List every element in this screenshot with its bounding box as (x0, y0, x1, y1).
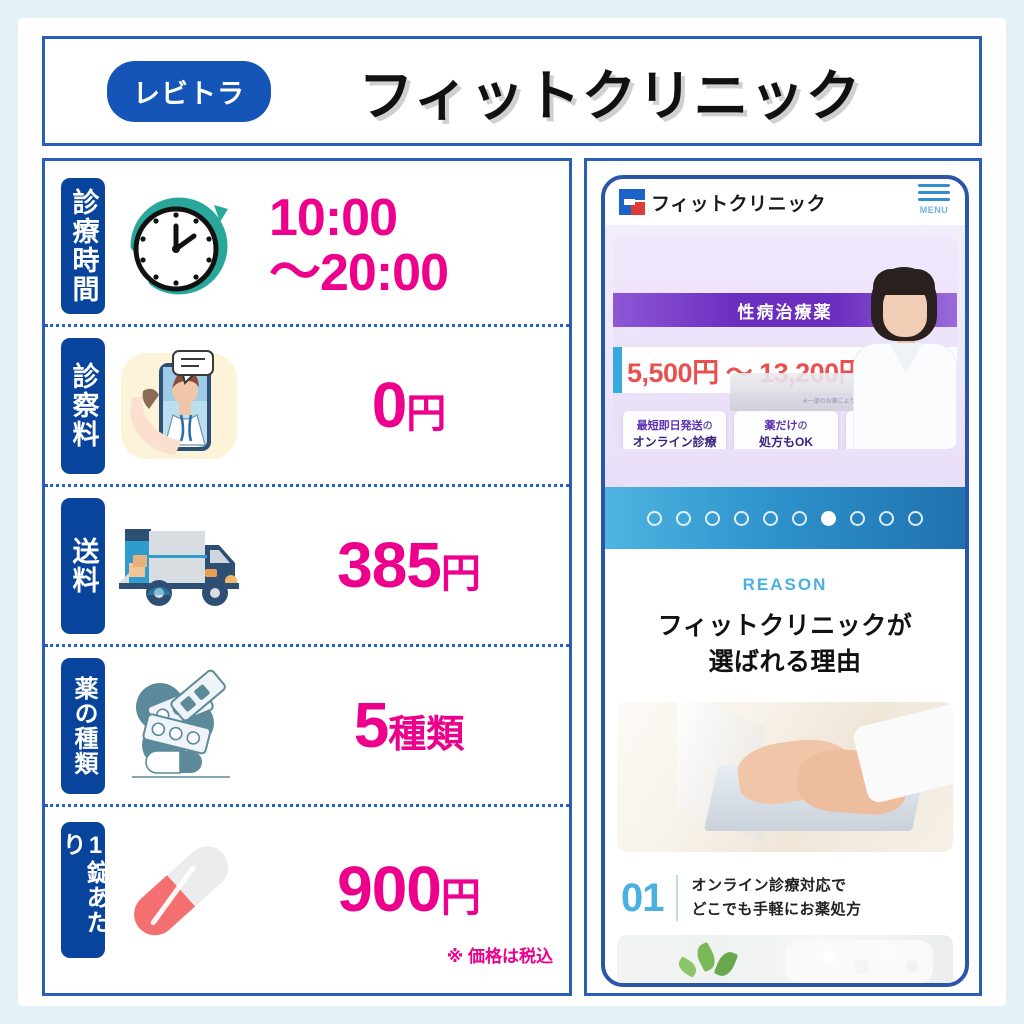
spec-value: 0円 (249, 372, 569, 439)
spec-panel: 診療時間 (42, 158, 572, 996)
feature-chip[interactable]: 最短即日発送の オンライン診療 (623, 411, 726, 449)
spec-row: 薬の種類 (45, 647, 569, 807)
feature-chip[interactable]: 薬だけの 処方もOK (734, 411, 837, 449)
carousel-dot-active[interactable] (821, 511, 836, 526)
spec-value-unit: 円 (441, 876, 481, 920)
carousel-dot[interactable] (908, 511, 923, 526)
spec-value-number: 385 (337, 529, 441, 601)
chip-line2: 処方もOK (736, 434, 835, 449)
spec-label-shinsatsuryo: 診察料 (61, 338, 105, 474)
reason-kicker: REASON (605, 575, 965, 595)
tax-note: ※ 価格は税込 (447, 942, 553, 967)
spec-row: 1錠あたり 900円 ※ 価格は税込 (45, 807, 569, 973)
herbal-pills-photo (617, 935, 953, 983)
chip-line1-suffix: の (703, 421, 713, 432)
chip-line1: 薬だけ (764, 420, 797, 432)
laptop-typing-photo (617, 702, 953, 852)
reason-title-line2: 選ばれる理由 (605, 645, 965, 681)
site-logo-text: フィットクリニック (651, 189, 826, 216)
spec-label-shinryojikan: 診療時間 (61, 178, 105, 314)
carousel-dot[interactable] (734, 511, 749, 526)
spec-row: 送料 (45, 487, 569, 647)
carousel-dot[interactable] (879, 511, 894, 526)
phone-preview-panel: フィットクリニック MENU 性病治療薬 5,500円 〜 13,200円 (584, 158, 982, 996)
spec-value-row: 385円 (337, 532, 481, 599)
carousel-dot[interactable] (792, 511, 807, 526)
reason-title: フィットクリニックが 選ばれる理由 (605, 609, 965, 680)
capsule-icon (109, 820, 249, 960)
chip-line2: オンライン診療 (625, 434, 724, 449)
clinic-logo-icon (619, 189, 645, 215)
reason-text: オンライン診療対応で どこでも手軽にお薬処方 (692, 874, 862, 922)
reason-title-line1: フィットクリニックが (605, 609, 965, 645)
pills-icon (109, 656, 249, 796)
spec-value: 385円 (249, 532, 569, 599)
spec-value: 5種類 (249, 692, 569, 759)
spec-row: 診療時間 (45, 167, 569, 327)
phone-mockup: フィットクリニック MENU 性病治療薬 5,500円 〜 13,200円 (601, 175, 969, 987)
spec-value-line1: 10:00 (249, 191, 569, 246)
spec-value-row: 5種類 (354, 692, 465, 759)
delivery-truck-icon (109, 496, 249, 636)
spec-value-row: 900円 (337, 856, 481, 923)
spec-value-number: 5 (354, 689, 389, 761)
spec-value-number: 0 (372, 369, 407, 441)
spec-value: 900円 (249, 856, 569, 923)
reason-text-line1: オンライン診療対応で (692, 874, 862, 898)
carousel-dot[interactable] (676, 511, 691, 526)
carousel-dot[interactable] (763, 511, 778, 526)
reason-item: 01 オンライン診療対応で どこでも手軽にお薬処方 (621, 874, 965, 922)
reason-section: REASON フィットクリニックが 選ばれる理由 (605, 549, 965, 680)
page-title: フィットクリニック (271, 51, 979, 131)
spec-value: 10:00 〜20:00 (249, 191, 569, 300)
hero-category-label: 性病治療薬 (738, 298, 833, 323)
menu-label: MENU (920, 205, 949, 215)
carousel-dot[interactable] (647, 511, 662, 526)
spec-value-row: 0円 (372, 372, 447, 439)
chip-line1-suffix: の (797, 421, 807, 432)
reason-text-line2: どこでも手軽にお薬処方 (692, 898, 862, 922)
spec-value-number: 900 (337, 853, 441, 925)
hero-slide[interactable]: 性病治療薬 5,500円 〜 13,200円 最短即日発送の オンライン診療 薬… (605, 225, 965, 487)
spec-row: 診察料 (45, 327, 569, 487)
reason-divider (676, 875, 678, 921)
chip-line1: 最短即日発送 (637, 420, 703, 432)
carousel-dot[interactable] (850, 511, 865, 526)
spec-value-unit: 円 (441, 552, 481, 596)
spec-label-soryo: 送料 (61, 498, 105, 634)
spec-value-unit: 円 (406, 392, 446, 436)
online-consultation-icon (109, 336, 249, 476)
carousel-dots[interactable] (605, 487, 965, 549)
hamburger-menu-icon[interactable]: MENU (913, 184, 955, 215)
spec-value-unit: 種類 (388, 714, 464, 756)
spec-label-1jo-atari: 1錠あたり (61, 822, 105, 958)
poster-card: レビトラ フィットクリニック 診療時間 (18, 18, 1006, 1006)
hero-inner: 性病治療薬 5,500円 〜 13,200円 最短即日発送の オンライン診療 薬… (613, 235, 957, 449)
site-header: フィットクリニック MENU (605, 179, 965, 225)
header-bar: レビトラ フィットクリニック (42, 36, 982, 146)
doctor-photo (845, 261, 957, 449)
price-accent-tick (613, 347, 622, 393)
spec-label-kusuri-no-shurui: 薬の種類 (61, 658, 105, 794)
reason-number: 01 (621, 876, 664, 921)
spec-value-line2: 〜20:00 (249, 246, 569, 301)
drug-name-badge: レビトラ (107, 61, 271, 122)
clock-icon (109, 176, 249, 316)
carousel-dot[interactable] (705, 511, 720, 526)
